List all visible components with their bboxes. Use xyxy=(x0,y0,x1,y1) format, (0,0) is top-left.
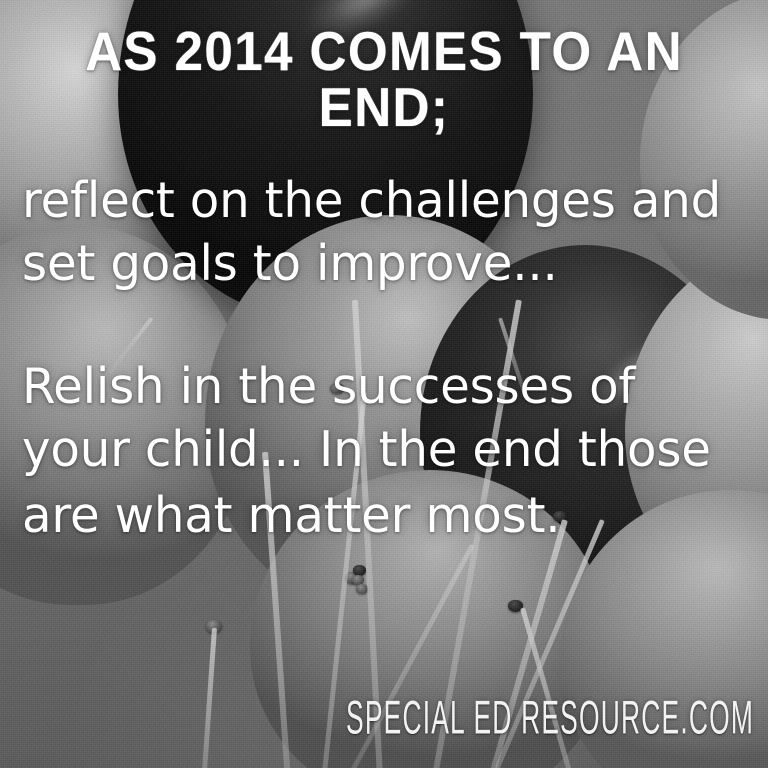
quote-body: reflect on the challenges and set goals … xyxy=(22,168,752,548)
headline-line-2: END; xyxy=(27,80,741,134)
quote-paragraph-2: Relish in the successes of your child...… xyxy=(22,354,752,547)
site-watermark: SPECIAL ED RESOURCE.COM xyxy=(346,694,754,742)
quote-p2-line-1: Relish in the successes of xyxy=(22,354,741,419)
quote-p2-line-3: are what matter most. xyxy=(22,483,741,548)
text-overlay: AS 2014 COMES TO AN END; reflect on the … xyxy=(0,0,768,768)
quote-poster: AS 2014 COMES TO AN END; reflect on the … xyxy=(0,0,768,768)
quote-p2-line-2: your child... In the end those xyxy=(22,417,741,482)
headline: AS 2014 COMES TO AN END; xyxy=(27,24,741,135)
headline-line-1: AS 2014 COMES TO AN xyxy=(27,24,741,78)
quote-paragraph-1: reflect on the challenges and set goals … xyxy=(22,168,752,296)
quote-p1-line-1: reflect on the challenges and xyxy=(22,168,741,233)
quote-p1-line-2: set goals to improve... xyxy=(22,231,741,296)
